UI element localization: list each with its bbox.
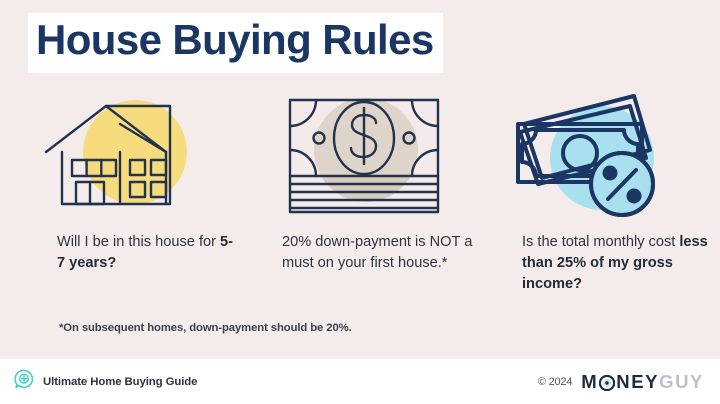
brand-money-m: M [581,371,598,393]
money-percent-icon [502,88,692,220]
brand-o-glyph-icon [599,374,615,390]
rule-caption-2: 20% down-payment is NOT a must on your f… [278,232,480,274]
title-highlight-band: House Buying Rules [28,13,443,73]
house-icon [40,88,230,220]
moneyguy-logo: M NEY GUY [581,371,704,393]
footer-brand: © 2024 M NEY GUY [538,371,704,393]
page-title: House Buying Rules [28,13,443,73]
footer-guide[interactable]: Ultimate Home Buying Guide [14,369,197,394]
rule-caption-3-prefix: Is the total monthly cost [522,234,679,250]
rule-caption-1-prefix: Will I be in this house for [57,234,220,250]
speech-bubble-plus-icon [14,369,34,394]
rule-column-1: Will I be in this house for 5-7 years? [0,88,240,295]
rule-caption-2-prefix: 20% down-payment is NOT a must on your f… [282,234,472,271]
footer-bar: Ultimate Home Buying Guide © 2024 M NEY … [0,359,720,404]
title-text: House Buying Rules [36,16,434,63]
brand-guy: GUY [659,371,704,393]
footnote: *On subsequent homes, down-payment shoul… [59,322,352,334]
footer-guide-label: Ultimate Home Buying Guide [43,376,197,388]
infographic-root: House Buying Rules [0,0,720,404]
rule-column-2: 20% down-payment is NOT a must on your f… [240,88,480,295]
rule-column-3: Is the total monthly cost less than 25% … [480,88,720,295]
rule-caption-1: Will I be in this house for 5-7 years? [40,232,240,274]
rule-caption-3: Is the total monthly cost less than 25% … [502,232,720,295]
copyright-text: © 2024 [538,376,572,388]
rules-row: Will I be in this house for 5-7 years? [0,88,720,295]
brand-money-ney: NEY [616,371,659,393]
cash-stack-icon [278,88,468,220]
